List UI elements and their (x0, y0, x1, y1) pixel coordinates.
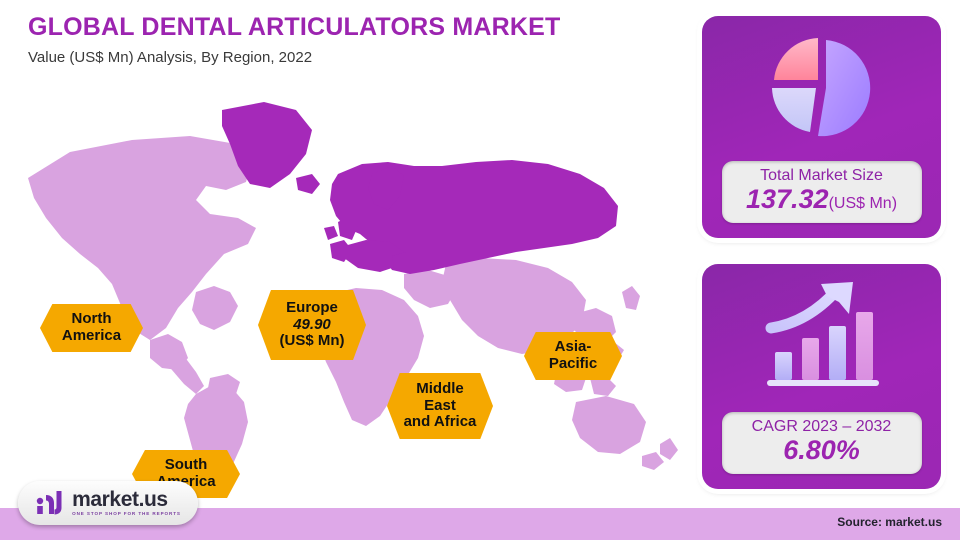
cagr-card[interactable]: CAGR 2023 – 2032 6.80% (702, 264, 941, 489)
market-size-card[interactable]: Total Market Size 137.32(US$ Mn) (702, 16, 941, 238)
page-title: GLOBAL DENTAL ARTICULATORS MARKET (28, 14, 668, 42)
map-badge-north-america[interactable]: North America (40, 304, 143, 352)
bar-chart-growth-icon (757, 282, 887, 394)
badge-line-1: Middle (416, 381, 464, 398)
pie-chart-icon (766, 32, 878, 144)
map-badge-middle-east-and-africa[interactable]: Middle East and Africa (387, 373, 493, 439)
market-size-unit: (US$ Mn) (829, 195, 897, 212)
badge-line-1: Europe (286, 300, 338, 317)
badge-line-3: and Africa (404, 414, 477, 431)
bar-chart-growth-icon-wrap (702, 264, 941, 412)
logo-text: market.us ONE STOP SHOP FOR THE REPORTS (72, 489, 181, 517)
badge-line-1: Asia- (555, 339, 592, 356)
logo-name: market.us (72, 489, 181, 510)
cagr-value: 6.80% (726, 436, 918, 466)
badge-unit: (US$ Mn) (280, 333, 345, 350)
market-size-value: 137.32 (746, 184, 829, 214)
infographic-root: GLOBAL DENTAL ARTICULATORS MARKET Value … (0, 0, 960, 540)
logo-tagline: ONE STOP SHOP FOR THE REPORTS (72, 512, 181, 517)
badge-line-1: North (72, 311, 112, 328)
badge-line-2: Pacific (549, 356, 597, 373)
map-highlight-regions (222, 102, 618, 274)
market-size-label: Total Market Size (726, 167, 918, 185)
world-map-panel: North America South America Europe 49.90… (0, 78, 690, 493)
market-size-value-row: 137.32(US$ Mn) (726, 185, 918, 215)
cagr-value-box: CAGR 2023 – 2032 6.80% (722, 412, 922, 474)
badge-value: 49.90 (293, 317, 331, 334)
badge-line-2: East (424, 398, 456, 415)
header: GLOBAL DENTAL ARTICULATORS MARKET Value … (28, 14, 668, 67)
logo-bars-icon (35, 489, 65, 517)
world-map-svg (0, 78, 690, 493)
cagr-label: CAGR 2023 – 2032 (726, 418, 918, 436)
page-subtitle: Value (US$ Mn) Analysis, By Region, 2022 (28, 49, 668, 67)
pie-chart-icon-wrap (702, 16, 941, 161)
badge-line-2: America (62, 328, 121, 345)
market-size-value-box: Total Market Size 137.32(US$ Mn) (722, 161, 922, 223)
map-badge-asia-pacific[interactable]: Asia- Pacific (524, 332, 622, 380)
source-text: Source: market.us (837, 515, 942, 529)
map-badge-europe[interactable]: Europe 49.90 (US$ Mn) (258, 290, 366, 360)
market-us-logo[interactable]: market.us ONE STOP SHOP FOR THE REPORTS (18, 481, 198, 525)
badge-line-1: South (165, 457, 208, 474)
